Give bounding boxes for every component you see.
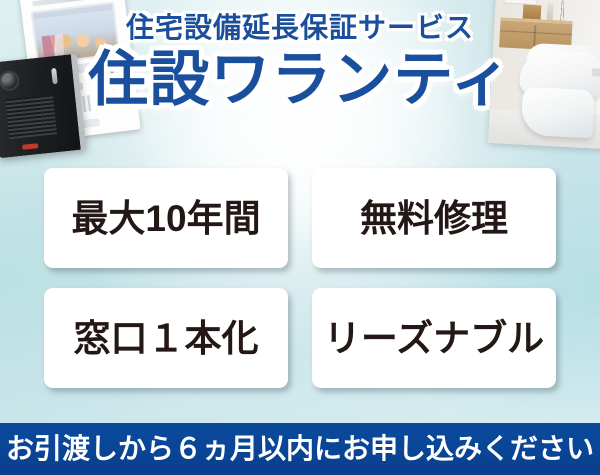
toilet-bathroom-photo <box>488 0 600 149</box>
footer-notice-bar: お引渡しから６ヵ月以内にお申し込みください <box>0 423 600 475</box>
feature-card-reasonable: リーズナブル <box>312 288 556 388</box>
intercom-printed-text <box>94 91 126 111</box>
feature-card-max-years: 最大10年間 <box>44 168 288 268</box>
intercom-dial <box>101 62 130 91</box>
feature-card-label: 無料修理 <box>360 200 508 237</box>
door-station-camera-icon <box>0 70 20 92</box>
shelf-box-item <box>523 5 542 20</box>
feature-card-label: 窓口１本化 <box>74 320 259 357</box>
footer-notice-text: お引渡しから６ヵ月以内にお申し込みください <box>6 435 594 463</box>
door-station-led <box>51 68 58 84</box>
feature-card-free-repair: 無料修理 <box>312 168 556 268</box>
feature-card-label: リーズナブル <box>324 320 544 357</box>
feature-card-grid: 最大10年間 無料修理 窓口１本化 リーズナブル <box>44 168 556 388</box>
promo-banner: 住宅設備延長保証サービス 住設ワランティ 最大10年間 無料修理 窓口１本化 リ… <box>0 0 600 475</box>
door-station-speaker-grille <box>5 94 57 139</box>
feature-card-label: 最大10年間 <box>71 200 260 237</box>
toilet-control-panel <box>592 68 600 77</box>
feature-card-single-contact: 窓口１本化 <box>44 288 288 388</box>
door-station-photo <box>0 54 87 159</box>
door-station-call-button <box>22 143 38 150</box>
shelf-bottle-item <box>547 3 554 20</box>
